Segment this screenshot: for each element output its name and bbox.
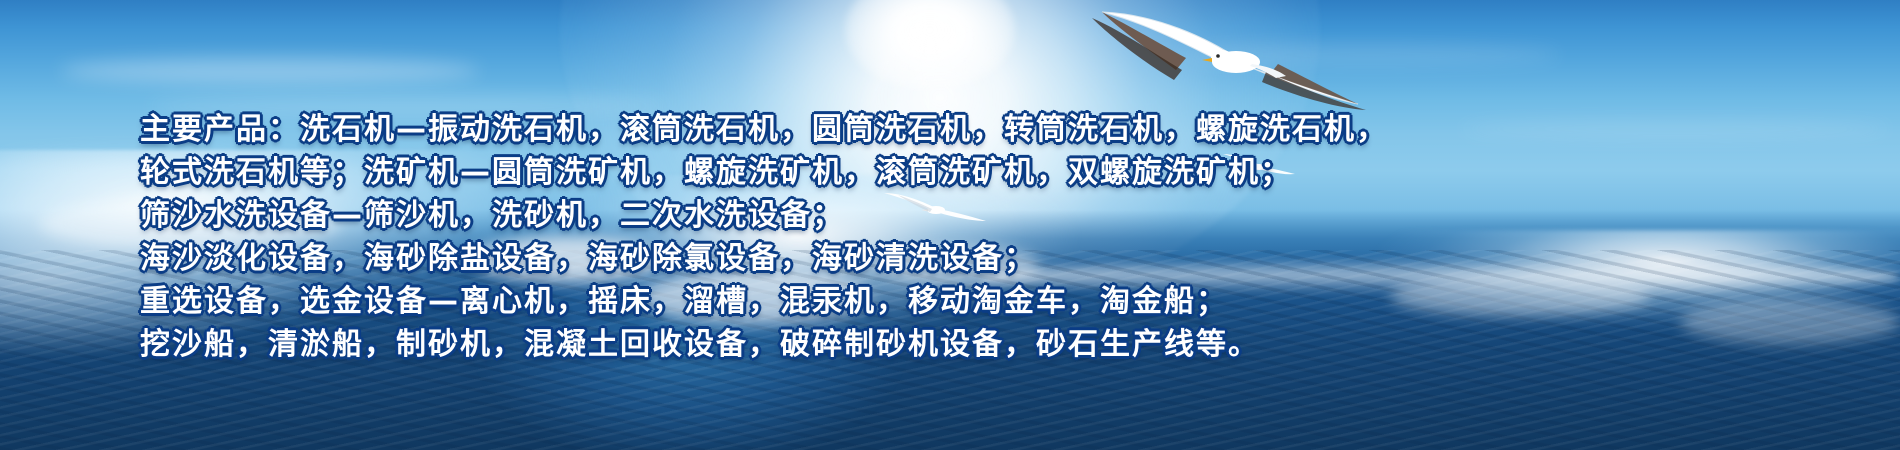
- product-line-4: 海沙淡化设备，海砂除盐设备，海砂除氯设备，海砂清洗设备；: [140, 237, 1900, 280]
- product-text-block: 主要产品：洗石机—振动洗石机，滚筒洗石机，圆筒洗石机，转筒洗石机，螺旋洗石机， …: [0, 0, 1900, 450]
- banner-hero: 主要产品：洗石机—振动洗石机，滚筒洗石机，圆筒洗石机，转筒洗石机，螺旋洗石机， …: [0, 0, 1900, 450]
- product-line-1: 主要产品：洗石机—振动洗石机，滚筒洗石机，圆筒洗石机，转筒洗石机，螺旋洗石机，: [140, 108, 1900, 151]
- product-line-5: 重选设备，选金设备—离心机，摇床，溜槽，混汞机，移动淘金车，淘金船；: [140, 280, 1900, 323]
- product-line-2: 轮式洗石机等；洗矿机—圆筒洗矿机，螺旋洗矿机，滚筒洗矿机，双螺旋洗矿机；: [140, 151, 1900, 194]
- product-line-6: 挖沙船，清淤船，制砂机，混凝土回收设备，破碎制砂机设备，砂石生产线等。: [140, 323, 1900, 366]
- product-line-3: 筛沙水洗设备—筛沙机，洗砂机，二次水洗设备；: [140, 194, 1900, 237]
